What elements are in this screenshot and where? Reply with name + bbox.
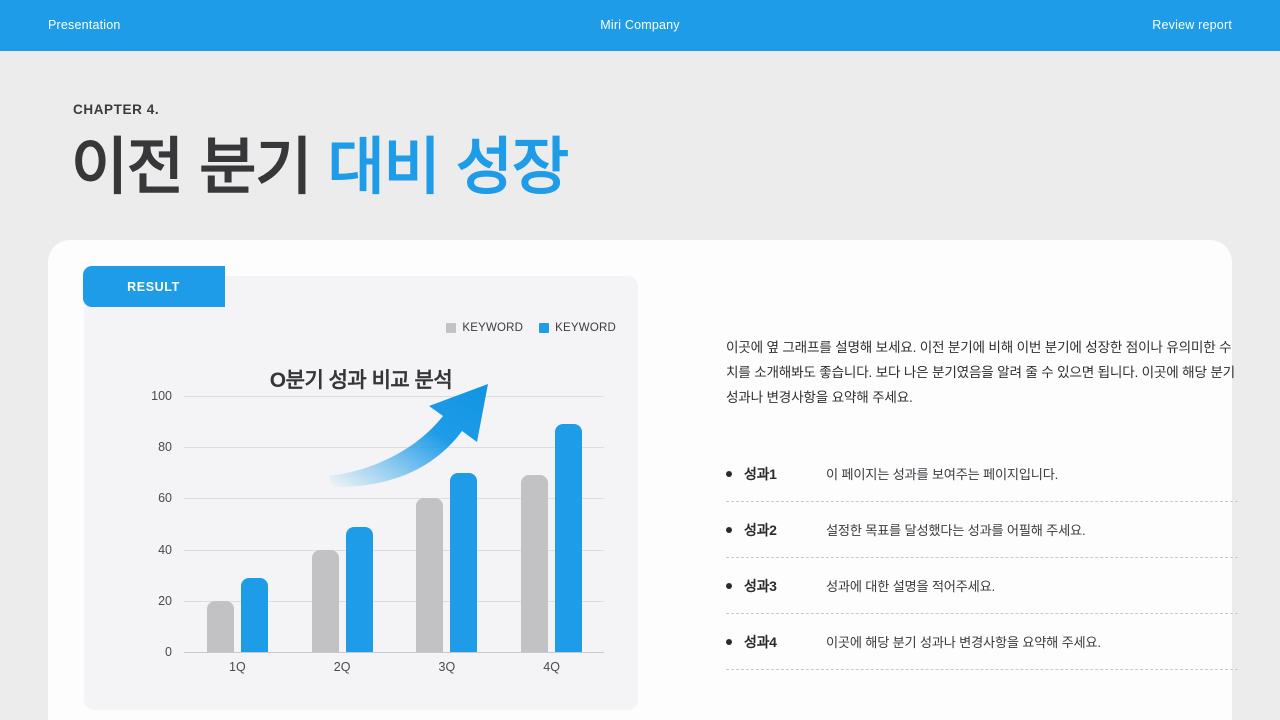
bar-group [416, 396, 477, 652]
kpi-row: 성과1이 페이지는 성과를 보여주는 페이지입니다. [726, 446, 1238, 502]
legend-label: KEYWORD [462, 322, 523, 334]
y-axis-tick-label: 60 [128, 491, 172, 505]
content-card: KEYWORD KEYWORD O분기 성과 비교 분석 10080604020… [48, 240, 1232, 720]
page-title: 이전 분기 대비 성장 [71, 128, 568, 208]
right-panel: 이곳에 옆 그래프를 설명해 보세요. 이전 분기에 비해 이번 분기에 성장한… [726, 335, 1238, 670]
top-bar: Presentation Miri Company Review report [0, 0, 1280, 51]
bullet-icon [726, 527, 732, 533]
bar [207, 601, 234, 652]
result-tab[interactable]: RESULT [83, 266, 224, 307]
kpi-name: 성과4 [744, 632, 826, 652]
y-axis-tick-label: 0 [128, 645, 172, 659]
kpi-list: 성과1이 페이지는 성과를 보여주는 페이지입니다.성과2설정한 목표를 달성했… [726, 446, 1238, 670]
kpi-row: 성과3성과에 대한 설명을 적어주세요. [726, 558, 1238, 614]
y-axis-tick-label: 40 [128, 543, 172, 557]
slide: Presentation Miri Company Review report … [0, 0, 1280, 720]
bar-group [312, 396, 373, 652]
bar-chart: 100806040200 1Q2Q3Q4Q [128, 396, 604, 692]
x-axis-tick-label: 4Q [512, 660, 592, 674]
bar [416, 498, 443, 652]
kpi-name: 성과1 [744, 464, 826, 484]
legend-swatch-icon [446, 323, 456, 333]
bullet-icon [726, 471, 732, 477]
kpi-name: 성과3 [744, 576, 826, 596]
bullet-icon [726, 583, 732, 589]
bar [450, 473, 477, 652]
chart-panel: KEYWORD KEYWORD O분기 성과 비교 분석 10080604020… [84, 276, 638, 710]
legend-swatch-icon [539, 323, 549, 333]
chart-legend: KEYWORD KEYWORD [446, 322, 616, 334]
kpi-name: 성과2 [744, 520, 826, 540]
topbar-right-label[interactable]: Review report [1152, 0, 1232, 51]
x-axis-tick-label: 3Q [407, 660, 487, 674]
x-axis-tick-label: 1Q [197, 660, 277, 674]
legend-label: KEYWORD [555, 322, 616, 334]
kpi-text: 이 페이지는 성과를 보여주는 페이지입니다. [826, 464, 1058, 483]
page-title-dark: 이전 분기 [71, 133, 328, 202]
kpi-row: 성과4이곳에 해당 분기 성과나 변경사항을 요약해 주세요. [726, 614, 1238, 670]
description-text: 이곳에 옆 그래프를 설명해 보세요. 이전 분기에 비해 이번 분기에 성장한… [726, 335, 1238, 410]
kpi-row: 성과2설정한 목표를 달성했다는 성과를 어필해 주세요. [726, 502, 1238, 558]
bar [346, 527, 373, 652]
chapter-label: CHAPTER 4. [73, 102, 159, 117]
bar-group [207, 396, 268, 652]
page-title-accent: 대비 성장 [328, 133, 568, 202]
kpi-text: 성과에 대한 설명을 적어주세요. [826, 576, 995, 595]
bar [521, 475, 548, 652]
bar [555, 424, 582, 652]
bar [312, 550, 339, 652]
chart-bars [185, 396, 604, 652]
bar [241, 578, 268, 652]
result-tab-label: RESULT [127, 280, 180, 294]
bullet-icon [726, 639, 732, 645]
bar-group [521, 396, 582, 652]
topbar-company-label: Miri Company [0, 0, 1280, 51]
y-axis-tick-label: 100 [128, 389, 172, 403]
x-axis-tick-label: 2Q [302, 660, 382, 674]
y-axis-tick-label: 20 [128, 594, 172, 608]
chart-x-axis: 1Q2Q3Q4Q [185, 652, 604, 682]
legend-item: KEYWORD [446, 322, 523, 334]
legend-item: KEYWORD [539, 322, 616, 334]
kpi-text: 이곳에 해당 분기 성과나 변경사항을 요약해 주세요. [826, 632, 1101, 651]
kpi-text: 설정한 목표를 달성했다는 성과를 어필해 주세요. [826, 520, 1085, 539]
y-axis-tick-label: 80 [128, 440, 172, 454]
